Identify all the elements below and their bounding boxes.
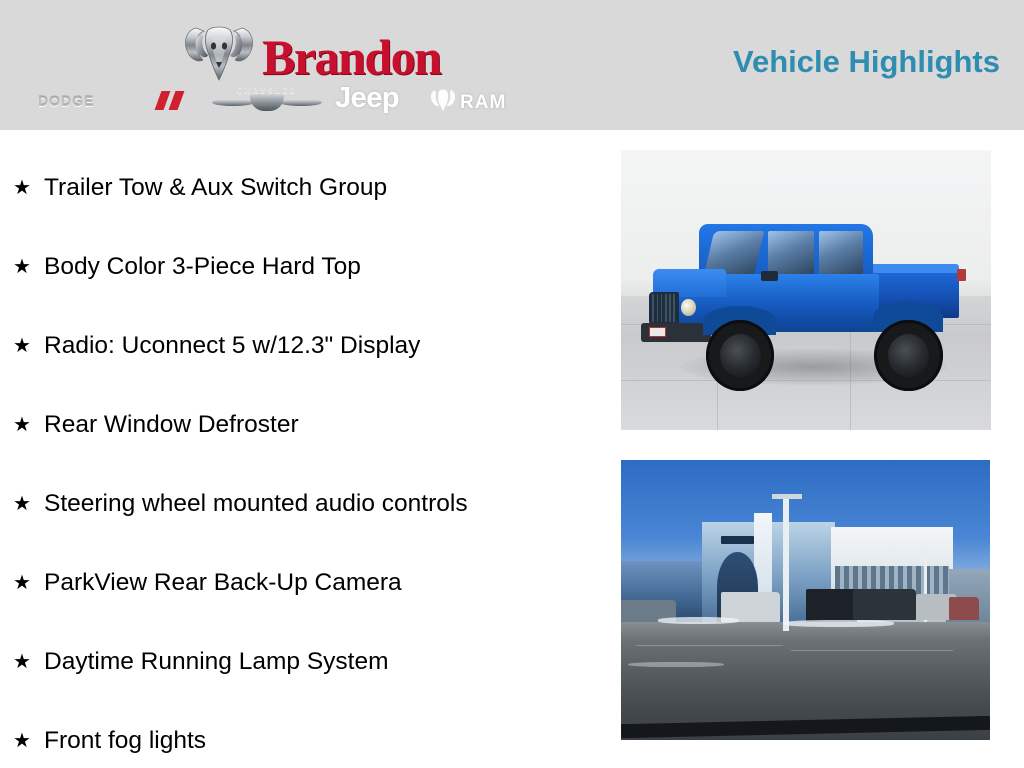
vehicle-highlights-list: ★ Trailer Tow & Aux Switch Group ★ Body … [0, 148, 610, 768]
chrysler-wing-right [280, 99, 322, 106]
dealership-sign [721, 536, 754, 544]
wheel-rim [720, 334, 761, 377]
page-title: Vehicle Highlights [733, 44, 1000, 80]
list-item: ★ Steering wheel mounted audio controls [0, 464, 610, 543]
list-item: ★ Radio: Uconnect 5 w/12.3" Display [0, 306, 610, 385]
vehicle-photo[interactable] [621, 150, 991, 430]
page-header: Brandon DODGE CHRYSLER Jeep [0, 0, 1024, 130]
highlight-label: Radio: Uconnect 5 w/12.3" Display [44, 332, 420, 360]
parked-vehicle [949, 597, 979, 619]
dodge-slash-1 [155, 91, 171, 110]
list-item: ★ ParkView Rear Back-Up Camera [0, 543, 610, 622]
oem-logo-row: DODGE CHRYSLER Jeep [30, 80, 560, 120]
dealer-name-wordmark: Brandon [262, 30, 440, 84]
highlight-label: Body Color 3-Piece Hard Top [44, 253, 361, 281]
highlight-label: Front fog lights [44, 727, 206, 755]
snow-patch [783, 620, 894, 627]
snow-patch [628, 662, 724, 668]
parked-vehicle [806, 589, 858, 623]
highlight-label: Trailer Tow & Aux Switch Group [44, 174, 387, 202]
highlight-label: Steering wheel mounted audio controls [44, 490, 468, 518]
dodge-logo-text: DODGE [38, 93, 94, 109]
dodge-slash-2 [169, 91, 185, 110]
dodge-logo-icon: DODGE [38, 90, 196, 112]
chrysler-medallion [250, 94, 284, 111]
highlight-label: ParkView Rear Back-Up Camera [44, 569, 402, 597]
dealer-brand-block: Brandon DODGE CHRYSLER Jeep [30, 8, 560, 122]
star-bullet-icon: ★ [13, 573, 31, 593]
list-item: ★ Daytime Running Lamp System [0, 622, 610, 701]
taillight [957, 269, 966, 281]
star-bullet-icon: ★ [13, 652, 31, 672]
headlight [681, 299, 696, 316]
star-bullet-icon: ★ [13, 415, 31, 435]
ram-logo-icon: RAM [430, 88, 550, 114]
rear-wheel [874, 320, 942, 391]
light-pole-fixture [772, 494, 802, 500]
wheel-rim [888, 334, 929, 377]
chrysler-logo-text: CHRYSLER [226, 86, 308, 95]
snow-patch [658, 617, 739, 624]
list-item: ★ Trailer Tow & Aux Switch Group [0, 148, 610, 227]
star-bullet-icon: ★ [13, 336, 31, 356]
license-plate [649, 327, 666, 337]
star-bullet-icon: ★ [13, 178, 31, 198]
star-bullet-icon: ★ [13, 257, 31, 277]
ram-logo-text: RAM [460, 92, 506, 114]
list-item: ★ Front fog lights [0, 701, 610, 768]
list-item: ★ Rear Window Defroster [0, 385, 610, 464]
star-bullet-icon: ★ [13, 731, 31, 751]
ram-head-mini-icon [430, 88, 456, 112]
ram-head-logo-icon [182, 22, 256, 86]
seven-slot-grille [649, 292, 679, 325]
lot-marking [636, 645, 784, 646]
lot-marking [791, 650, 953, 651]
chrysler-wing-left [212, 99, 254, 106]
parked-vehicle [853, 589, 916, 620]
jeep-logo-icon: Jeep [335, 82, 399, 115]
jeep-gladiator-illustration [640, 217, 973, 391]
rear-door-window [819, 231, 862, 274]
light-pole [783, 496, 789, 630]
list-item: ★ Body Color 3-Piece Hard Top [0, 227, 610, 306]
highlight-label: Daytime Running Lamp System [44, 648, 389, 676]
star-bullet-icon: ★ [13, 494, 31, 514]
dealership-photo[interactable] [621, 460, 990, 740]
front-wheel [706, 320, 774, 391]
side-mirror [761, 271, 778, 281]
front-door-window [768, 231, 815, 274]
highlight-label: Rear Window Defroster [44, 411, 299, 439]
vehicle-highlights-page: Brandon DODGE CHRYSLER Jeep [0, 0, 1024, 768]
chrysler-logo-icon: CHRYSLER [212, 86, 322, 114]
